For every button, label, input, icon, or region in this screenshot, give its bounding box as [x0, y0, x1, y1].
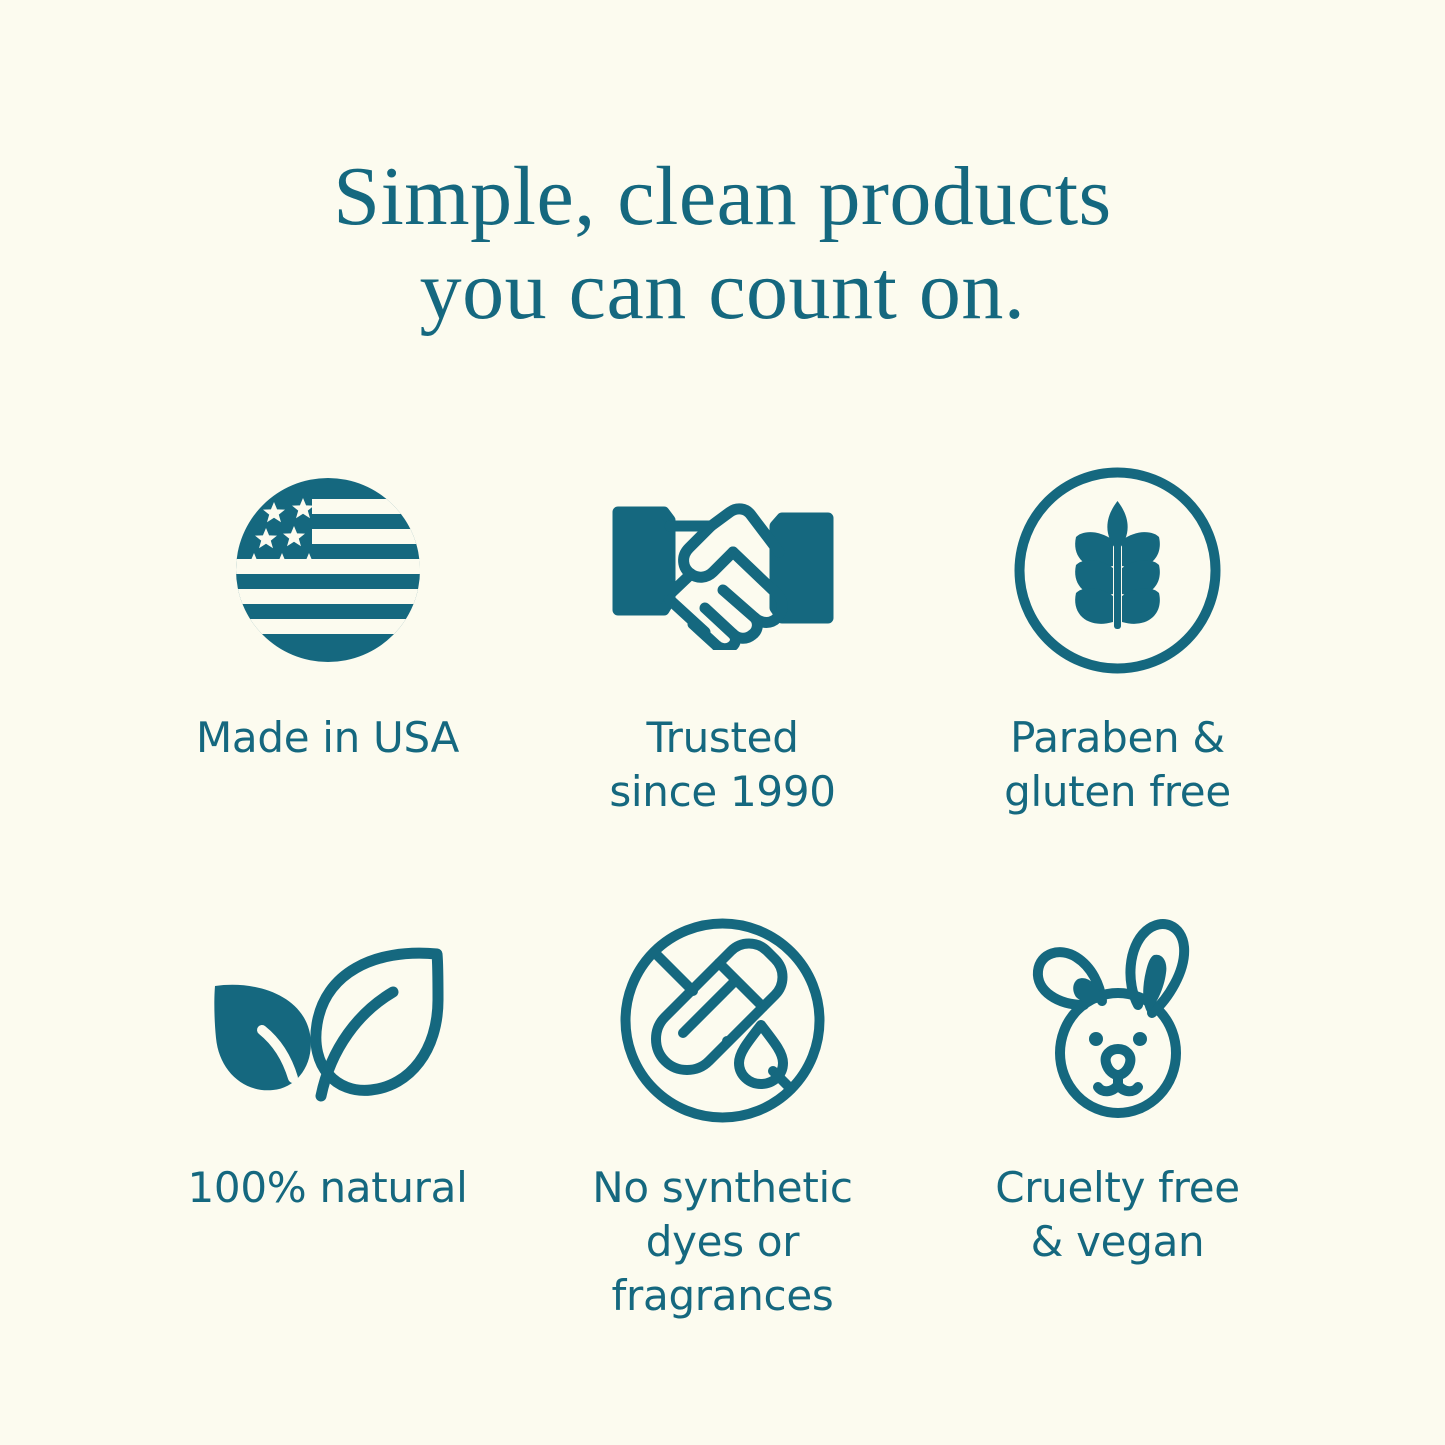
no-test-tube-icon — [615, 905, 830, 1135]
usa-flag-circle-icon — [228, 455, 428, 685]
badge-trusted-since-1990: Trusted since 1990 — [525, 455, 920, 905]
badge-label: Paraben & gluten free — [1004, 711, 1231, 819]
badge-label: Made in USA — [196, 711, 459, 765]
page-title-line-1: Simple, clean products — [0, 150, 1445, 244]
badge-label: Trusted since 1990 — [609, 711, 835, 819]
badge-no-synthetic-dyes: No synthetic dyes or fragrances — [525, 905, 920, 1355]
badge-label: 100% natural — [188, 1161, 468, 1215]
badge-100-percent-natural: 100% natural — [130, 905, 525, 1355]
badge-cruelty-free-vegan: Cruelty free & vegan — [920, 905, 1315, 1355]
badge-made-in-usa: Made in USA — [130, 455, 525, 905]
page-title-line-2: you can count on. — [0, 244, 1445, 338]
badge-paraben-gluten-free: Paraben & gluten free — [920, 455, 1315, 905]
bunny-icon — [1018, 905, 1218, 1135]
page-title: Simple, clean products you can count on. — [0, 150, 1445, 338]
handshake-icon — [607, 455, 839, 685]
marketing-badge-panel: Simple, clean products you can count on. — [0, 0, 1445, 1445]
wheat-circle-icon — [1010, 455, 1225, 685]
badge-label: No synthetic dyes or fragrances — [592, 1161, 852, 1322]
badge-label: Cruelty free & vegan — [995, 1161, 1240, 1269]
two-leaves-icon — [205, 905, 450, 1135]
badge-grid: Made in USA — [130, 455, 1315, 1355]
